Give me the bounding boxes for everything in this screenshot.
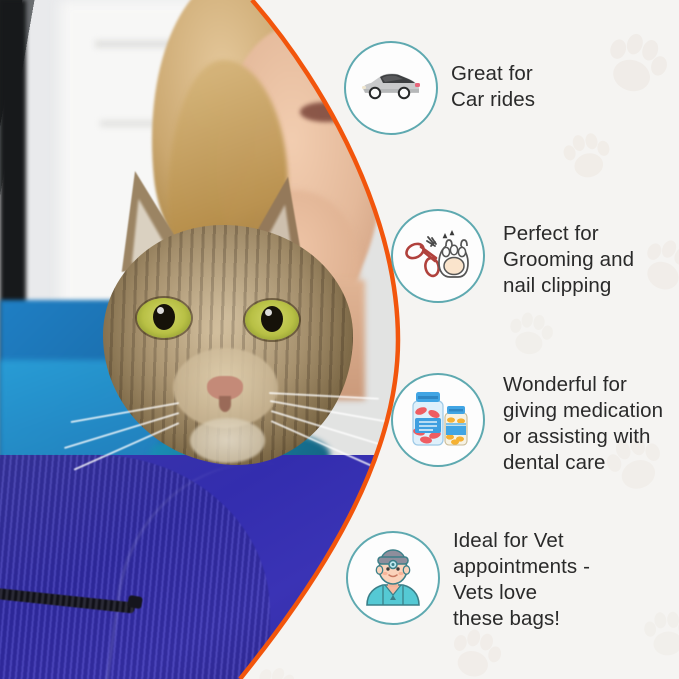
- grooming-icon-circle: [391, 209, 485, 303]
- feature-label: Great for Car rides: [451, 61, 535, 113]
- cat-photo-subject: [95, 170, 395, 500]
- feature-label: Ideal for Vet appointments - Vets love t…: [453, 528, 590, 632]
- feature-row-grooming: Perfect for Grooming and nail clipping: [391, 209, 634, 303]
- veterinarian-icon: [361, 545, 425, 612]
- paw-print-watermark: [634, 602, 679, 667]
- feature-label: Perfect for Grooming and nail clipping: [503, 221, 634, 299]
- feature-row-car-rides: Great for Car rides: [344, 41, 535, 135]
- feature-row-vet: Ideal for Vet appointments - Vets love t…: [346, 531, 590, 632]
- medication-bottles-icon: [405, 387, 471, 454]
- paw-print-watermark: [498, 303, 561, 366]
- car-icon-circle: [344, 41, 438, 135]
- paw-print-watermark: [552, 122, 623, 193]
- feature-row-medication: Wonderful for giving medication or assis…: [391, 373, 663, 476]
- product-infographic: Great for Car rides: [0, 0, 679, 679]
- feature-label: Wonderful for giving medication or assis…: [503, 372, 663, 476]
- car-icon: [359, 69, 423, 108]
- vet-icon-circle: [346, 531, 440, 625]
- nail-clippers-paw-icon: [405, 225, 471, 288]
- medication-icon-circle: [391, 373, 485, 467]
